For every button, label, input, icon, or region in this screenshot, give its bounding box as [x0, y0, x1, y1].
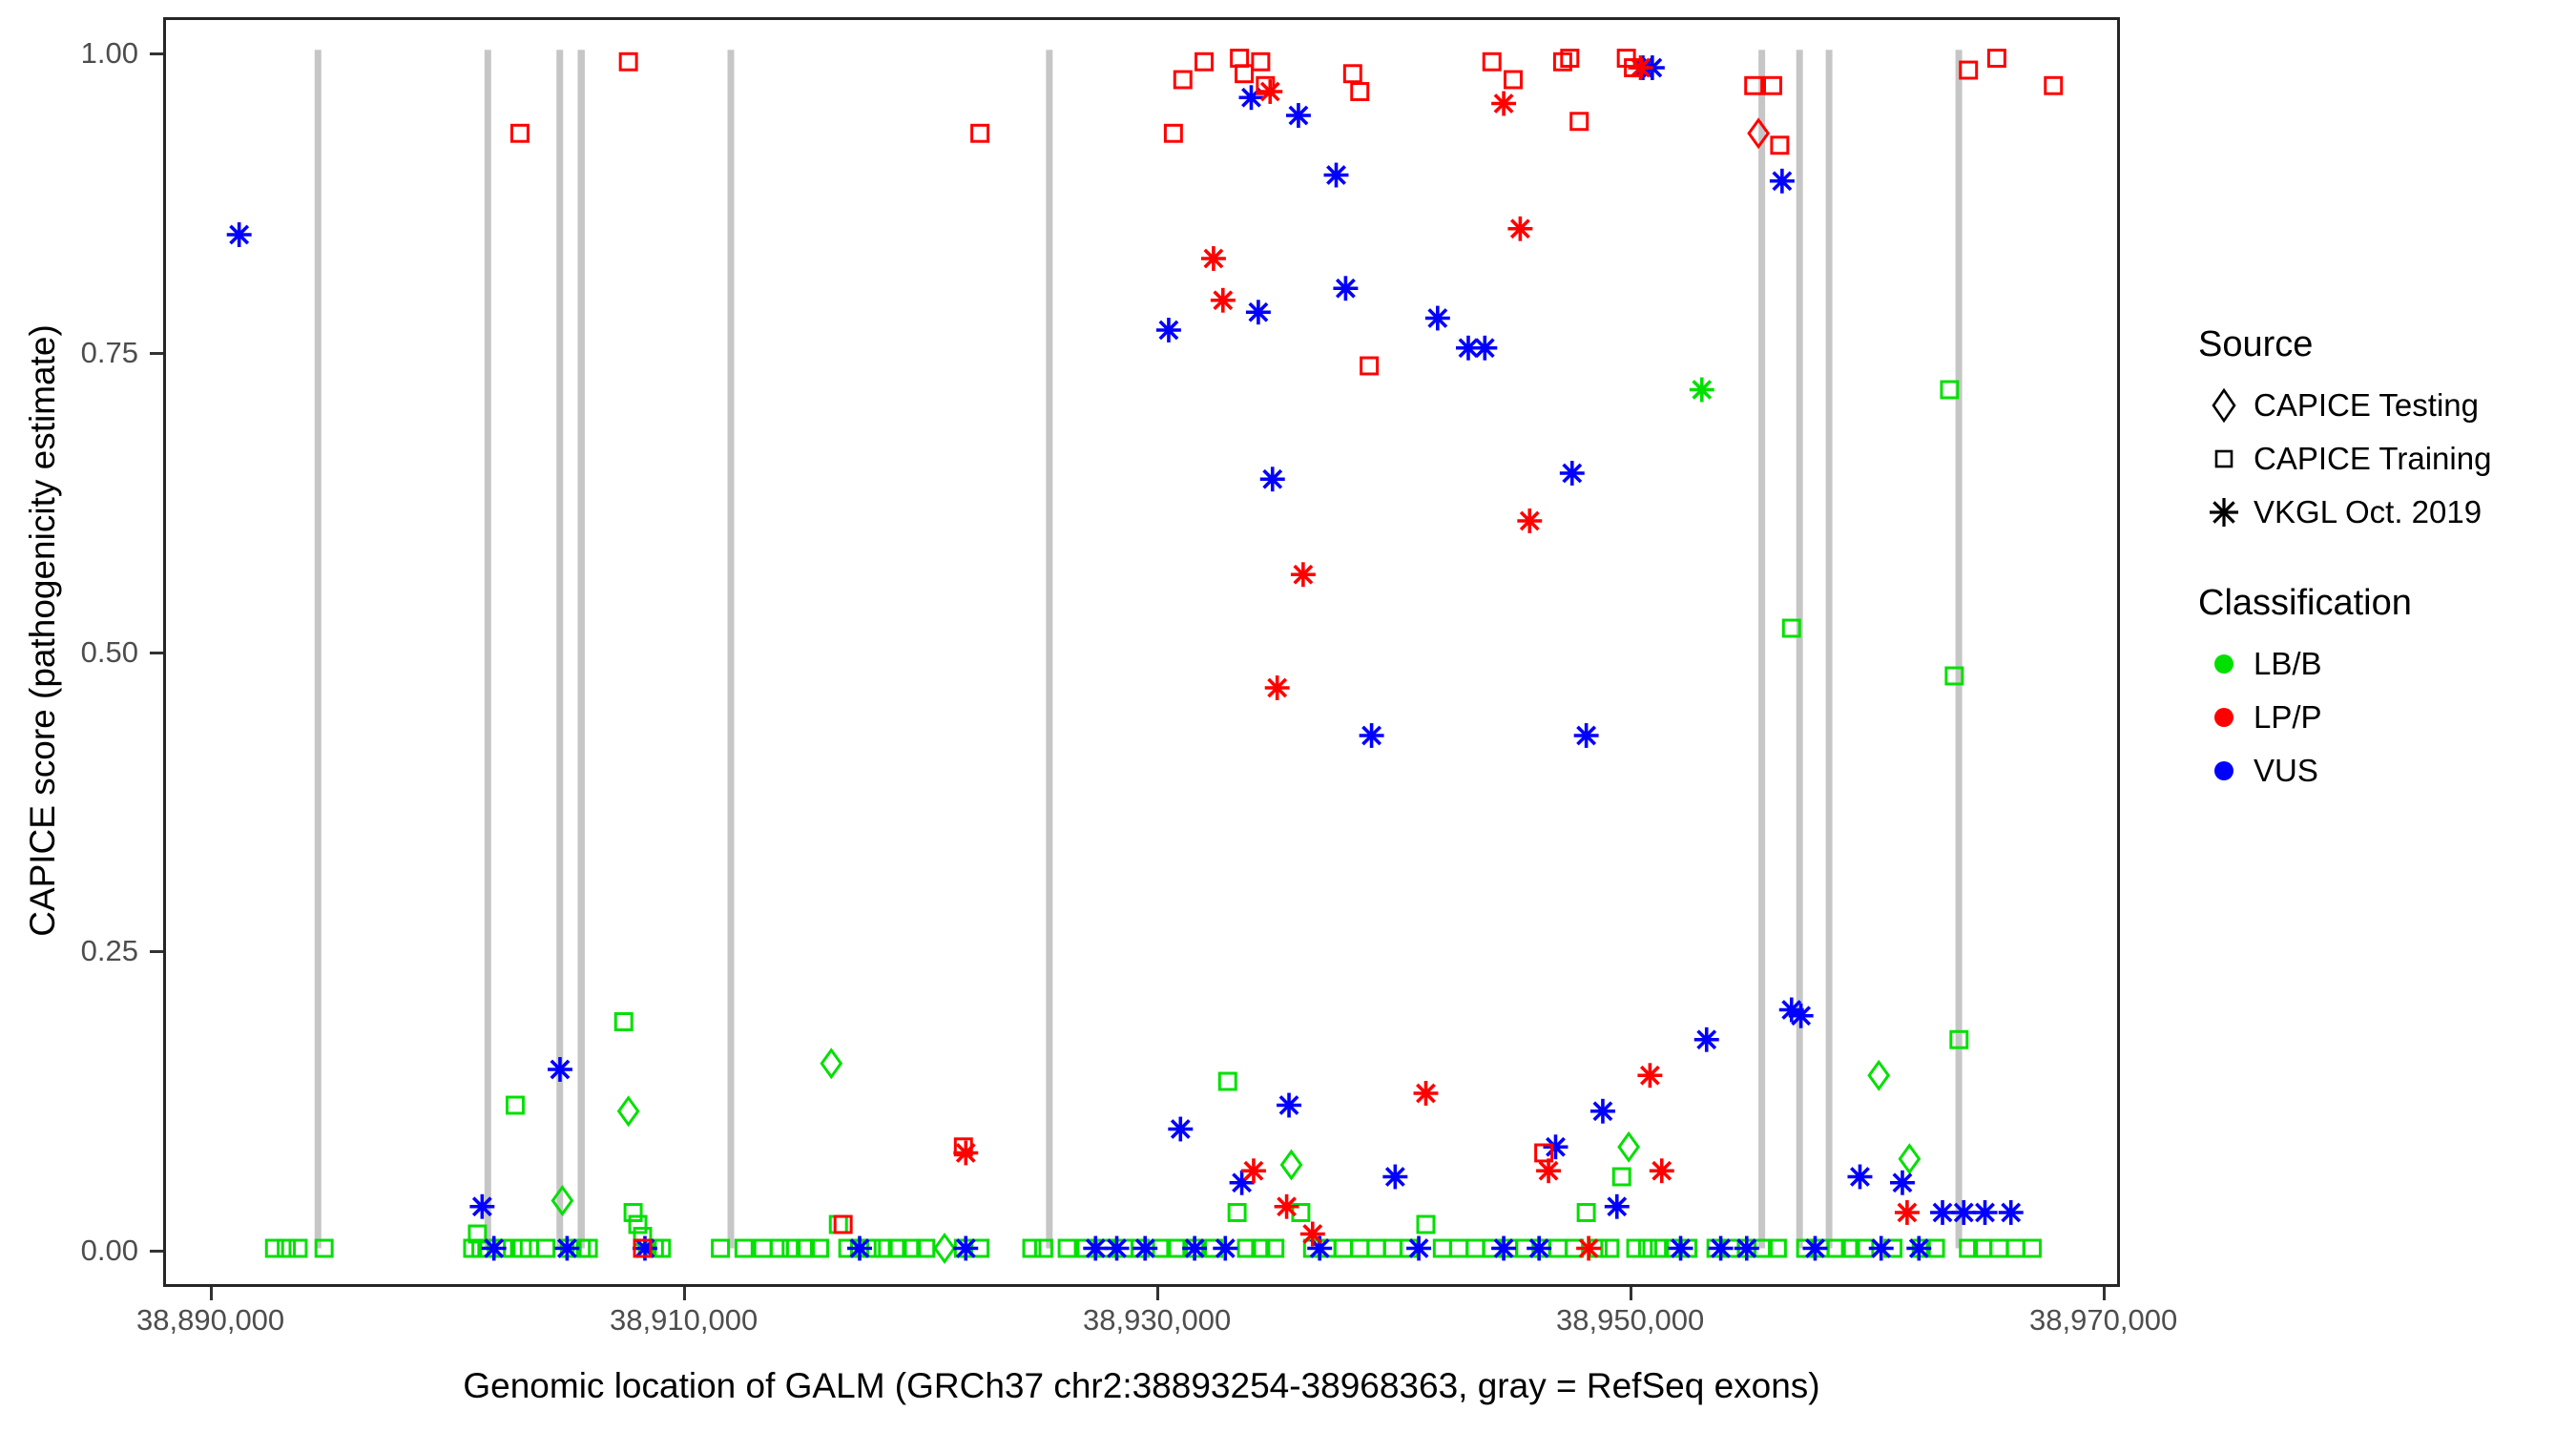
point-capice-training: [1196, 53, 1213, 70]
x-tick-mark: [683, 1287, 686, 1300]
point-capice-training: [615, 1014, 632, 1030]
chart-root: 0.000.250.500.751.00 CAPICE score (patho…: [0, 0, 2576, 1431]
point-vkgl: [1239, 85, 1264, 110]
point-capice-training: [1253, 53, 1269, 70]
legend-group-classification: Classification LB/BLP/PVUS: [2194, 583, 2557, 798]
scatter-plot-canvas: [166, 20, 2117, 1284]
point-capice-training: [1434, 1240, 1450, 1256]
point-vkgl: [1414, 1081, 1439, 1106]
point-capice-training: [266, 1240, 282, 1256]
legend-item-label: CAPICE Training: [2254, 441, 2491, 477]
series-lbb: [266, 378, 2040, 1262]
legend-key: [2194, 490, 2254, 534]
point-vkgl: [1789, 1004, 1814, 1028]
exon-band: [1956, 50, 1963, 1248]
point-vkgl: [1803, 1236, 1828, 1261]
y-axis-title: CAPICE score (pathogenicity estimate): [23, 249, 63, 1012]
x-tick-label: 38,950,000: [1556, 1305, 1704, 1335]
y-tick-mark: [150, 1250, 163, 1253]
legend-item[interactable]: LB/B: [2194, 637, 2557, 691]
point-vkgl: [1576, 1236, 1601, 1261]
point-capice-training: [1602, 1240, 1618, 1256]
x-tick-mark: [210, 1287, 213, 1300]
x-tick-mark: [1156, 1287, 1159, 1300]
point-capice-training: [830, 1216, 846, 1233]
point-capice-training: [625, 1205, 641, 1221]
square-icon: [2202, 437, 2246, 481]
point-vkgl: [847, 1236, 872, 1261]
legend-item-label: VKGL Oct. 2019: [2254, 494, 2482, 530]
point-vkgl: [1895, 1200, 1920, 1225]
point-vkgl: [1629, 55, 1653, 80]
x-tick-label: 38,910,000: [610, 1305, 758, 1335]
point-vkgl: [1735, 1236, 1759, 1261]
point-vkgl: [548, 1057, 572, 1082]
point-capice-training: [1991, 1240, 2007, 1256]
point-vkgl: [1277, 1093, 1301, 1118]
point-capice-training: [2046, 77, 2062, 93]
point-vkgl: [1472, 336, 1497, 361]
point-vkgl: [1669, 1236, 1693, 1261]
point-vkgl: [1574, 723, 1599, 748]
point-vkgl: [1890, 1171, 1915, 1195]
point-vkgl: [1156, 318, 1181, 342]
point-vkgl: [1517, 508, 1542, 533]
point-capice-training: [1352, 1240, 1368, 1256]
point-vkgl: [1544, 1134, 1568, 1159]
point-capice-training: [713, 1240, 729, 1256]
legend-item[interactable]: LP/P: [2194, 691, 2557, 744]
point-capice-training: [1988, 51, 2005, 67]
legend-item-label: CAPICE Testing: [2254, 387, 2479, 424]
legend-key: [2194, 749, 2254, 793]
exon-band: [1826, 50, 1833, 1248]
diamond-icon: [2202, 384, 2246, 427]
point-capice-training: [1571, 114, 1588, 130]
point-vkgl: [1132, 1236, 1157, 1261]
asterisk-icon: [2202, 490, 2246, 534]
point-vkgl: [1507, 217, 1532, 241]
point-capice-training: [1942, 382, 1958, 398]
point-capice-training: [279, 1240, 295, 1256]
legend-item[interactable]: VUS: [2194, 744, 2557, 798]
series-vus: [227, 55, 2024, 1260]
point-capice-training: [1505, 72, 1521, 88]
point-vkgl: [1637, 1063, 1662, 1088]
exon-band: [1046, 50, 1052, 1248]
point-vkgl: [1168, 1117, 1193, 1142]
x-tick-mark: [1630, 1287, 1632, 1300]
legend-group-source: Source CAPICE TestingCAPICE TrainingVKGL…: [2194, 324, 2557, 539]
point-capice-training: [1961, 62, 1977, 78]
point-vkgl: [1590, 1099, 1615, 1124]
point-capice-testing: [1281, 1151, 1300, 1178]
y-tick-label: 0.75: [81, 338, 138, 367]
point-vkgl: [1690, 378, 1714, 403]
point-vkgl: [1300, 1222, 1325, 1247]
point-vkgl: [1406, 1236, 1431, 1261]
point-vkgl: [1265, 675, 1290, 700]
point-capice-training: [1236, 66, 1253, 82]
legend-key: [2194, 384, 2254, 427]
exon-band: [728, 50, 735, 1248]
point-capice-training: [1467, 1240, 1484, 1256]
point-vkgl: [1213, 1236, 1237, 1261]
point-capice-training: [538, 1240, 554, 1256]
point-capice-training: [972, 125, 988, 141]
point-capice-training: [1219, 1073, 1236, 1089]
point-capice-training: [771, 1240, 787, 1256]
point-vkgl: [1930, 1200, 1955, 1225]
point-vkgl: [1491, 92, 1516, 116]
legend-item[interactable]: VKGL Oct. 2019: [2194, 486, 2557, 539]
legend-item-label: LB/B: [2254, 646, 2322, 682]
point-vkgl: [953, 1236, 978, 1261]
point-vkgl: [227, 222, 252, 247]
point-vkgl: [1382, 1165, 1407, 1190]
point-capice-testing: [935, 1235, 954, 1262]
point-capice-training: [1352, 84, 1368, 100]
x-tick-label: 38,890,000: [136, 1305, 284, 1335]
point-vkgl: [1260, 467, 1285, 491]
point-capice-training: [736, 1240, 752, 1256]
exon-band: [1797, 50, 1803, 1248]
point-capice-training: [2025, 1240, 2041, 1256]
point-vkgl: [1211, 288, 1236, 313]
point-capice-training: [1335, 1240, 1351, 1256]
point-capice-training: [1549, 1240, 1566, 1256]
point-capice-training: [1639, 1240, 1655, 1256]
point-capice-training: [755, 1240, 771, 1256]
point-vkgl: [1201, 246, 1226, 271]
point-capice-training: [835, 1216, 851, 1233]
legend-item[interactable]: CAPICE Testing: [2194, 379, 2557, 432]
point-vkgl: [469, 1194, 494, 1219]
point-vkgl: [1999, 1200, 2024, 1225]
point-capice-training: [507, 1097, 523, 1113]
y-tick-mark: [150, 352, 163, 355]
point-capice-training: [1059, 1240, 1075, 1256]
point-vkgl: [1105, 1236, 1130, 1261]
point-vkgl: [1083, 1236, 1108, 1261]
point-capice-training: [1772, 137, 1788, 154]
legend-title-classification: Classification: [2198, 583, 2557, 624]
plot-panel: [163, 17, 2120, 1287]
point-capice-training: [290, 1240, 306, 1256]
exon-band: [315, 50, 322, 1248]
point-vkgl: [1246, 300, 1271, 324]
point-vkgl: [1425, 306, 1450, 331]
point-capice-training: [1384, 1240, 1401, 1256]
legend-item-label: VUS: [2254, 753, 2318, 789]
x-tick-label: 38,930,000: [1083, 1305, 1231, 1335]
point-capice-training: [630, 1216, 646, 1233]
point-capice-training: [1165, 125, 1181, 141]
point-capice-training: [1232, 51, 1248, 67]
legend-title-source: Source: [2198, 324, 2557, 365]
legend-key: [2194, 437, 2254, 481]
point-vkgl: [1951, 1200, 1976, 1225]
point-capice-training: [1484, 53, 1500, 70]
point-capice-training: [1613, 1169, 1630, 1185]
circle-icon: [2202, 695, 2246, 739]
point-vkgl: [1560, 461, 1585, 486]
point-vkgl: [482, 1236, 507, 1261]
x-axis-title: Genomic location of GALM (GRCh37 chr2:38…: [163, 1366, 2120, 1406]
chart-legend: Source CAPICE TestingCAPICE TrainingVKGL…: [2194, 324, 2557, 841]
point-vkgl: [1275, 1194, 1299, 1219]
point-capice-training: [1024, 1240, 1040, 1256]
y-tick-label: 0.00: [81, 1235, 138, 1265]
point-capice-training: [2007, 1240, 2024, 1256]
circle-icon: [2202, 642, 2246, 686]
point-capice-training: [1578, 1205, 1594, 1221]
point-capice-training: [1361, 358, 1378, 374]
y-tick-label: 0.50: [81, 637, 138, 667]
legend-item-label: LP/P: [2254, 699, 2322, 736]
point-vkgl: [1906, 1236, 1931, 1261]
point-capice-training: [620, 53, 636, 70]
data-point-layer: [227, 51, 2062, 1262]
point-vkgl: [1709, 1236, 1734, 1261]
point-vkgl: [953, 1141, 978, 1166]
point-vkgl: [1360, 723, 1384, 748]
point-capice-training: [1229, 1205, 1245, 1221]
point-vkgl: [1257, 79, 1282, 104]
point-capice-training: [1418, 1216, 1434, 1233]
point-vkgl: [1291, 562, 1316, 587]
point-capice-training: [1628, 1240, 1644, 1256]
point-vkgl: [1527, 1236, 1551, 1261]
legend-key: [2194, 642, 2254, 686]
point-vkgl: [1324, 163, 1349, 188]
point-capice-training: [1764, 77, 1780, 93]
point-capice-training: [511, 125, 528, 141]
point-vkgl: [1848, 1165, 1873, 1190]
point-capice-testing: [619, 1098, 638, 1125]
point-capice-testing: [1619, 1133, 1638, 1160]
point-vkgl: [1491, 1236, 1516, 1261]
point-vkgl: [1650, 1158, 1674, 1183]
legend-item[interactable]: CAPICE Training: [2194, 432, 2557, 486]
point-capice-training: [1451, 1240, 1467, 1256]
y-tick-label: 1.00: [81, 38, 138, 68]
point-vkgl: [554, 1236, 579, 1261]
point-vkgl: [1536, 1158, 1561, 1183]
x-tick-label: 38,970,000: [2029, 1305, 2177, 1335]
exon-band: [485, 50, 491, 1248]
y-tick-mark: [150, 652, 163, 654]
legend-key: [2194, 695, 2254, 739]
point-vkgl: [1605, 1194, 1630, 1219]
point-vkgl: [1182, 1236, 1207, 1261]
exon-band: [1758, 50, 1765, 1248]
point-capice-testing: [1869, 1062, 1888, 1089]
y-tick-label: 0.25: [81, 936, 138, 965]
point-vkgl: [1770, 169, 1795, 194]
point-capice-training: [1344, 66, 1361, 82]
point-vkgl: [1241, 1158, 1266, 1183]
y-tick-mark: [150, 950, 163, 953]
y-tick-mark: [150, 52, 163, 55]
x-tick-mark: [2103, 1287, 2106, 1300]
point-vkgl: [1973, 1200, 1998, 1225]
point-capice-training: [1174, 72, 1191, 88]
point-vkgl: [1333, 276, 1358, 301]
circle-icon: [2202, 749, 2246, 793]
point-vkgl: [1869, 1236, 1894, 1261]
exon-band: [578, 50, 585, 1248]
point-capice-training: [1368, 1240, 1384, 1256]
point-capice-testing: [1900, 1146, 1919, 1172]
point-capice-testing: [821, 1050, 841, 1077]
point-vkgl: [1286, 103, 1311, 128]
point-vkgl: [1694, 1027, 1719, 1052]
